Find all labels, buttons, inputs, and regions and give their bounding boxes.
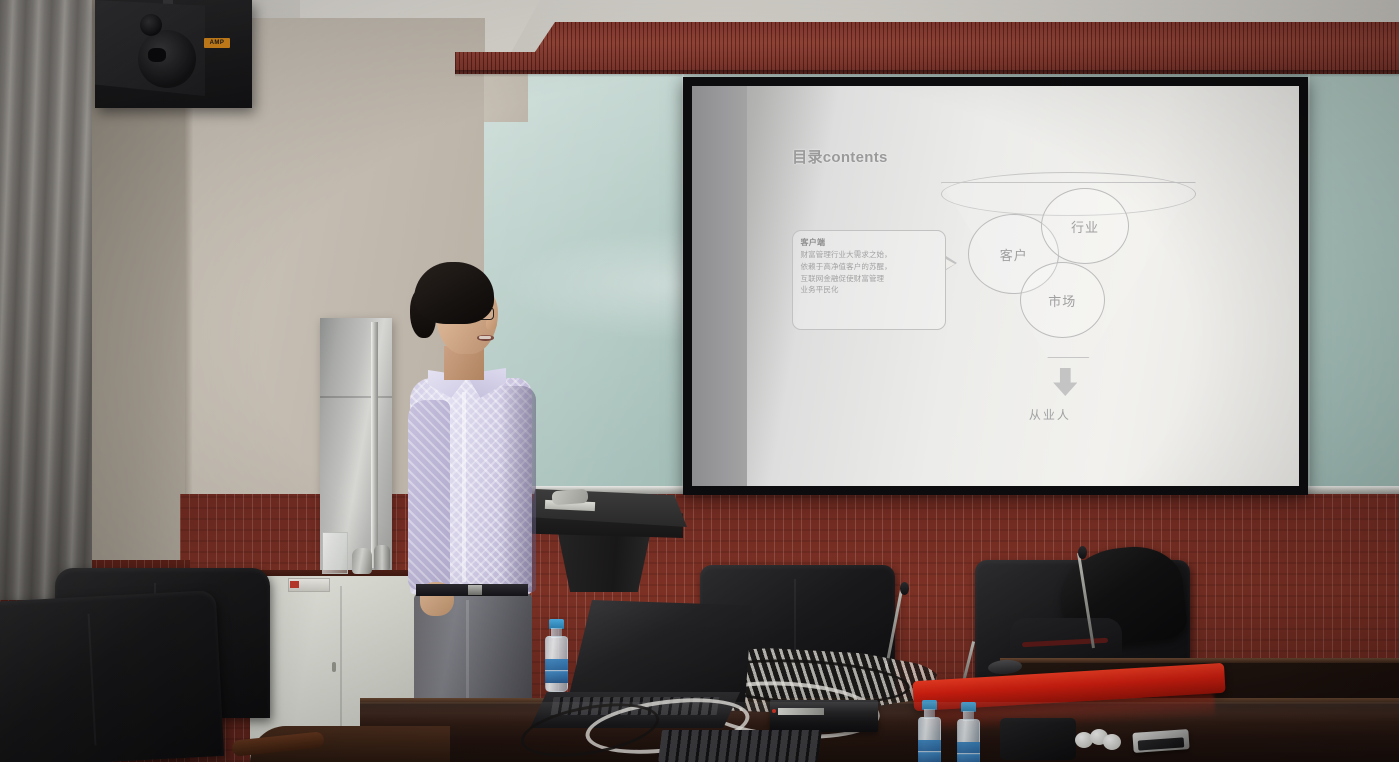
accessory-pouch [1000, 718, 1076, 760]
bottle-label [918, 740, 941, 762]
callout-title: 客户端 [801, 238, 938, 249]
lectern-cloth [552, 489, 589, 505]
diagram-outcome-label: 从业人 [1029, 406, 1071, 423]
speaker-port [148, 48, 166, 62]
callout-line-3: 互联网金融促使财富管理 [801, 274, 938, 285]
glass-seam-2 [1308, 62, 1310, 490]
callout-line-1: 财富管理行业大需求之始， [801, 250, 938, 261]
presenter [392, 262, 552, 762]
cabinet-knob [332, 662, 336, 672]
slide-heading: 目录contents [792, 146, 888, 167]
conference-room-photo: AMP 目录contents 客户端 财富管理行业大需求之始， 依赖于高净值客户… [0, 0, 1399, 762]
box-label-stripe [290, 581, 299, 588]
valance-shadow [455, 70, 1399, 77]
down-arrow-icon [1053, 368, 1077, 396]
curtain-shading [0, 0, 92, 600]
bubble-industry: 行业 [1041, 188, 1129, 264]
refrigerator-base [374, 545, 390, 573]
av-switch-box[interactable] [770, 700, 878, 732]
screen-unlit-band [692, 86, 747, 486]
kettle-on-cabinet [352, 548, 372, 574]
av-device-label-strip [778, 708, 824, 715]
bottle-label [545, 659, 568, 683]
speaker-tweeter-icon [140, 14, 162, 36]
wall-valance-red [455, 22, 1399, 74]
shirt-placket [462, 392, 466, 582]
power-led-icon [772, 709, 776, 713]
projection-screen-frame: 目录contents 客户端 财富管理行业大需求之始， 依赖于高净值客户的苏醒，… [683, 77, 1308, 495]
desk-keyboard[interactable] [658, 730, 822, 762]
bottle-label [957, 742, 980, 762]
presenter-arm [408, 400, 450, 590]
glassware-on-cabinet [322, 532, 348, 574]
belt-buckle [468, 585, 482, 595]
table-right-edge [1000, 658, 1399, 663]
earbud-case [1103, 734, 1121, 750]
callout-tail-inner [946, 259, 955, 269]
callout-line-4: 业务平民化 [801, 285, 938, 296]
slide-callout-box: 客户端 财富管理行业大需求之始， 依赖于高净值客户的苏醒， 互联网金融促使财富管… [792, 230, 947, 330]
chair-seam [88, 613, 97, 746]
speaker-woofer-icon [138, 30, 196, 88]
presenter-hair [414, 262, 494, 324]
callout-line-2: 依赖于高净值客户的苏醒， [801, 262, 938, 273]
speaker-badge: AMP [204, 38, 230, 48]
projection-screen-surface: 目录contents 客户端 财富管理行业大需求之始， 依赖于高净值客户的苏醒，… [692, 86, 1299, 486]
refrigerator-door-seam [320, 396, 392, 398]
laptop-screen[interactable] [568, 600, 752, 708]
refrigerator-handle [371, 322, 378, 568]
conference-table [360, 700, 1399, 762]
bubble-market: 市场 [1020, 262, 1105, 338]
microphone-head-1 [900, 582, 909, 595]
chair-front-left [0, 590, 224, 762]
shirt-shadow [500, 386, 536, 592]
microphone-head-2 [1078, 546, 1087, 559]
presenter-teeth [479, 336, 491, 339]
earbuds [1075, 729, 1123, 751]
